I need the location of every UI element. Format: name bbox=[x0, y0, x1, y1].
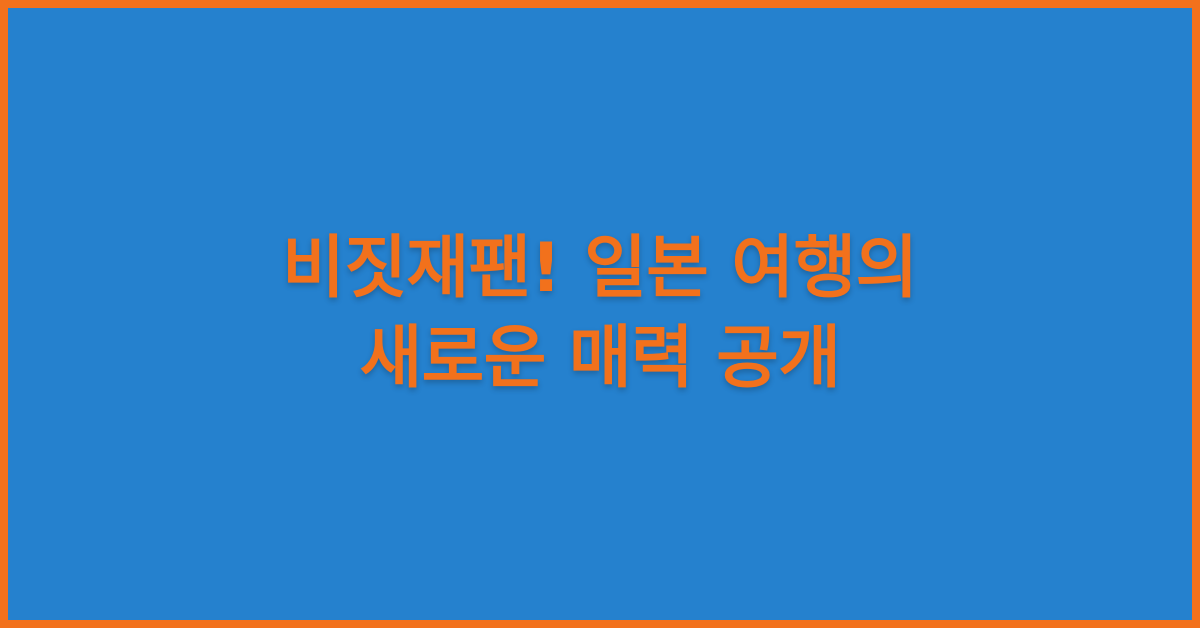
page-title: 비짓재팬! 일본 여행의 새로운 매력 공개 bbox=[8, 224, 1192, 404]
card-canvas: 비짓재팬! 일본 여행의 새로운 매력 공개 bbox=[8, 8, 1192, 620]
headline-line-2: 새로운 매력 공개 bbox=[48, 314, 1152, 404]
og-image-card: 비짓재팬! 일본 여행의 새로운 매력 공개 bbox=[0, 0, 1200, 628]
headline-line-1: 비짓재팬! 일본 여행의 bbox=[48, 224, 1152, 314]
